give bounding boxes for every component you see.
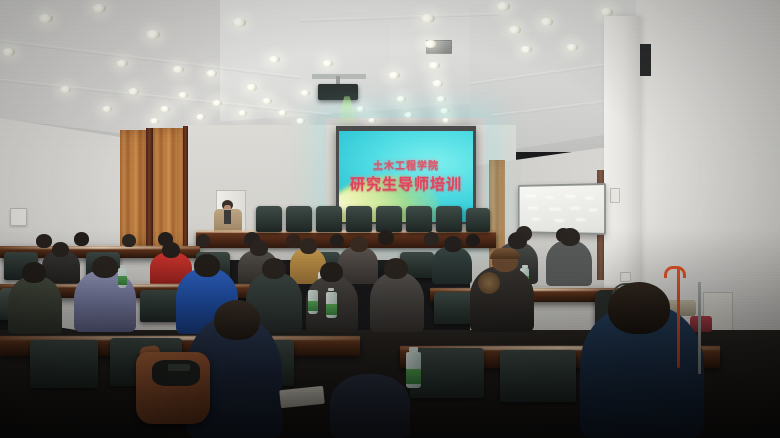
audience-person [330,374,410,438]
chair[interactable] [256,206,282,232]
ceiling-downlight [566,44,578,51]
presenter-shirt [224,210,231,224]
ceiling-downlight [388,72,400,79]
audience-head [330,234,344,247]
mop-handle-hook [664,266,686,278]
audience-head [36,234,52,248]
chair[interactable] [376,206,402,232]
audience-head [608,282,670,334]
light-switch-plate[interactable] [10,208,27,226]
ceiling-downlight [206,70,217,77]
audience-head [320,262,343,282]
bottle-label [118,276,127,285]
ceiling-downlight [232,18,246,27]
audience-head [92,256,118,278]
bottle-label [308,301,318,311]
audience-head [350,236,368,252]
brown-cap-icon [490,248,520,259]
bottle-cap [522,265,528,268]
ceiling-downlight [300,90,310,96]
audience-head [194,254,220,277]
bottle-label [406,369,421,384]
chair[interactable] [286,206,312,232]
bottle-cap [120,265,126,268]
ceiling-downlight [424,40,437,48]
ceiling-downlight [496,2,510,11]
audience-head [286,234,301,248]
ceiling-downlight [404,112,413,118]
audience-head [214,300,260,340]
ceiling-downlight [172,66,184,73]
audience-head [52,242,69,257]
audience-head [162,242,180,258]
ceiling-downlight [38,14,53,23]
chair[interactable] [410,348,484,398]
ceiling-downlight [322,60,333,67]
audience-person-grey [546,240,592,286]
ceiling-downlight [432,80,443,87]
ceiling-downlight [178,92,188,98]
chair[interactable] [466,208,490,232]
ceiling-downlight [116,60,128,67]
ceiling-downlight [92,4,106,13]
wood-trim-left-2 [183,126,188,250]
chair[interactable] [406,206,432,232]
wall-socket[interactable] [610,188,620,203]
ceiling-downlight [436,96,446,102]
audience-person [370,272,424,332]
audience-head [508,232,527,249]
pillar-vent-icon [640,44,651,76]
wood-panel-left [120,130,146,248]
audience-head [384,258,408,279]
ceiling-downlight [428,62,440,69]
ceiling-downlight [508,26,521,34]
chair[interactable] [500,350,576,402]
ceiling-projector [318,84,358,100]
bottle-cap [409,347,418,352]
screen-title: 研究生导师培训 [339,173,473,194]
ceiling-downlight [102,106,112,112]
bottle-cap [328,288,334,291]
ceiling-downlight [268,56,280,63]
screen-subtitle: 土木工程学院 [339,157,473,172]
ceiling-downlight [2,48,15,56]
lecture-hall-photo: 土木工程学院 研究生导师培训 [0,0,780,438]
ceiling-downlight [396,96,406,102]
ceiling-downlight [600,8,613,16]
audience-head [262,258,286,279]
ceiling-downlight [246,84,257,91]
ceiling-downlight [356,106,365,112]
ceiling-downlight [146,30,160,39]
ceiling-downlight [520,46,532,53]
audience-head [466,234,480,247]
ceiling-downlight [212,100,222,106]
chair[interactable] [30,340,98,388]
ceiling-downlight [238,110,247,116]
orange-mop[interactable] [677,268,680,368]
audience-head [74,232,89,246]
chair[interactable] [346,206,372,232]
audience-head [378,230,394,245]
fur-trim [478,272,500,294]
chair[interactable] [436,206,462,232]
grey-pole [698,282,701,374]
ceiling-downlight [440,108,449,114]
audience-head [444,236,462,252]
audience-head [560,228,580,246]
wood-trim-left [146,128,153,248]
ceiling-downlight [60,86,71,93]
audience-head [196,234,210,247]
ceiling-downlight [420,14,435,23]
audience-head [424,232,439,246]
ceiling-downlight [296,118,305,124]
audience-head [122,234,136,247]
audience-head [22,262,46,283]
wall-socket[interactable] [620,272,631,282]
ceiling-downlight [160,106,170,112]
ceiling-downlight [278,110,287,116]
audience-head [300,238,317,254]
ceiling-downlight [150,118,159,124]
ceiling-downlight [196,114,205,120]
ceiling-downlight [368,118,376,123]
bottle-label [326,304,337,315]
chair[interactable] [316,206,342,232]
audience-head [250,240,268,256]
ceiling-downlight [540,18,553,26]
ceiling-downlight [442,118,450,123]
bag-contents [168,364,190,371]
ceiling-downlight [128,88,139,95]
audience-person-olive [8,276,62,334]
ceiling-downlight [262,98,272,104]
